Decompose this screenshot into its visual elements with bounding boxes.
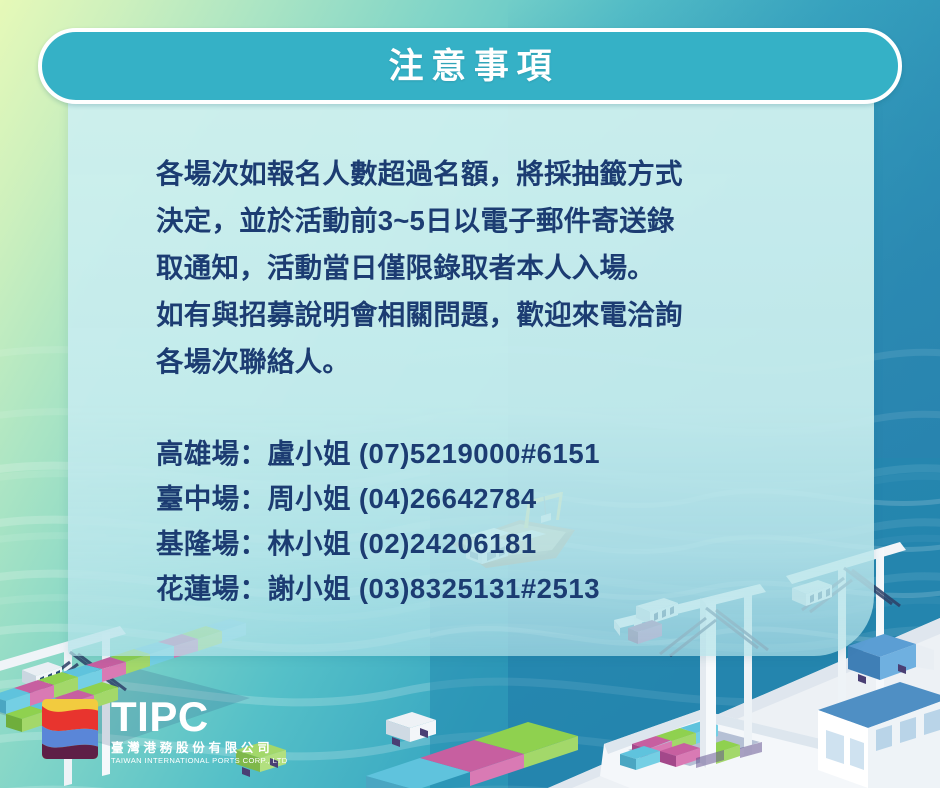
contact-phone: (03)8325131#2513 bbox=[359, 573, 600, 604]
contact-venue: 高雄場 bbox=[156, 438, 240, 469]
notice-paragraph: 各場次如報名人數超過名額，將採抽籤方式 決定，並於活動前3~5日以電子郵件寄送錄… bbox=[156, 150, 874, 385]
contact-person: 謝小姐 bbox=[267, 573, 351, 604]
contact-separator: ： bbox=[240, 573, 268, 604]
paragraph-line: 取通知，活動當日僅限錄取者本人入場。 bbox=[156, 252, 655, 283]
logo-acronym: TIPC bbox=[111, 698, 288, 737]
contact-row-kaohsiung: 高雄場：盧小姐 (07)5219000#6151 bbox=[156, 431, 874, 476]
paragraph-line: 各場次如報名人數超過名額，將採抽籤方式 bbox=[156, 158, 683, 189]
contact-separator: ： bbox=[240, 528, 268, 559]
paragraph-line: 如有與招募說明會相關問題，歡迎來電洽詢 bbox=[156, 299, 683, 330]
contact-row-hualien: 花蓮場：謝小姐 (03)8325131#2513 bbox=[156, 566, 874, 611]
page-title: 注意事項 bbox=[381, 49, 560, 84]
logo-company-name-zh: 臺灣港務股份有限公司 bbox=[111, 741, 288, 755]
cargo-truck-center bbox=[386, 712, 436, 747]
contact-person: 林小姐 bbox=[267, 528, 351, 559]
contact-phone: (07)5219000#6151 bbox=[359, 438, 600, 469]
paragraph-line: 各場次聯絡人。 bbox=[156, 346, 350, 377]
contact-phone: (02)24206181 bbox=[359, 528, 537, 559]
poster-canvas: 各場次如報名人數超過名額，將採抽籤方式 決定，並於活動前3~5日以電子郵件寄送錄… bbox=[0, 0, 940, 788]
notice-card: 各場次如報名人數超過名額，將採抽籤方式 決定，並於活動前3~5日以電子郵件寄送錄… bbox=[68, 96, 874, 656]
paragraph-line: 決定，並於活動前3~5日以電子郵件寄送錄 bbox=[156, 205, 675, 236]
contact-phone: (04)26642784 bbox=[359, 483, 537, 514]
logo-company-name-en: TAIWAN INTERNATIONAL PORTS CORP., LTD bbox=[111, 756, 288, 765]
contact-row-keelung: 基隆場：林小姐 (02)24206181 bbox=[156, 521, 874, 566]
contact-venue: 基隆場 bbox=[156, 528, 240, 559]
contact-person: 盧小姐 bbox=[267, 438, 351, 469]
contact-person: 周小姐 bbox=[267, 483, 351, 514]
tipc-logo: TIPC 臺灣港務股份有限公司 TAIWAN INTERNATIONAL POR… bbox=[40, 698, 288, 765]
contact-venue: 臺中場 bbox=[156, 483, 240, 514]
logo-text-block: TIPC 臺灣港務股份有限公司 TAIWAN INTERNATIONAL POR… bbox=[111, 698, 288, 765]
contact-separator: ： bbox=[240, 483, 268, 514]
header-banner: 注意事項 bbox=[38, 28, 902, 104]
tipc-flag-emblem-icon bbox=[40, 698, 100, 760]
contact-venue: 花蓮場 bbox=[156, 573, 240, 604]
contact-list: 高雄場：盧小姐 (07)5219000#6151 臺中場：周小姐 (04)266… bbox=[156, 431, 874, 611]
contact-row-taichung: 臺中場：周小姐 (04)26642784 bbox=[156, 476, 874, 521]
contact-separator: ： bbox=[240, 438, 268, 469]
